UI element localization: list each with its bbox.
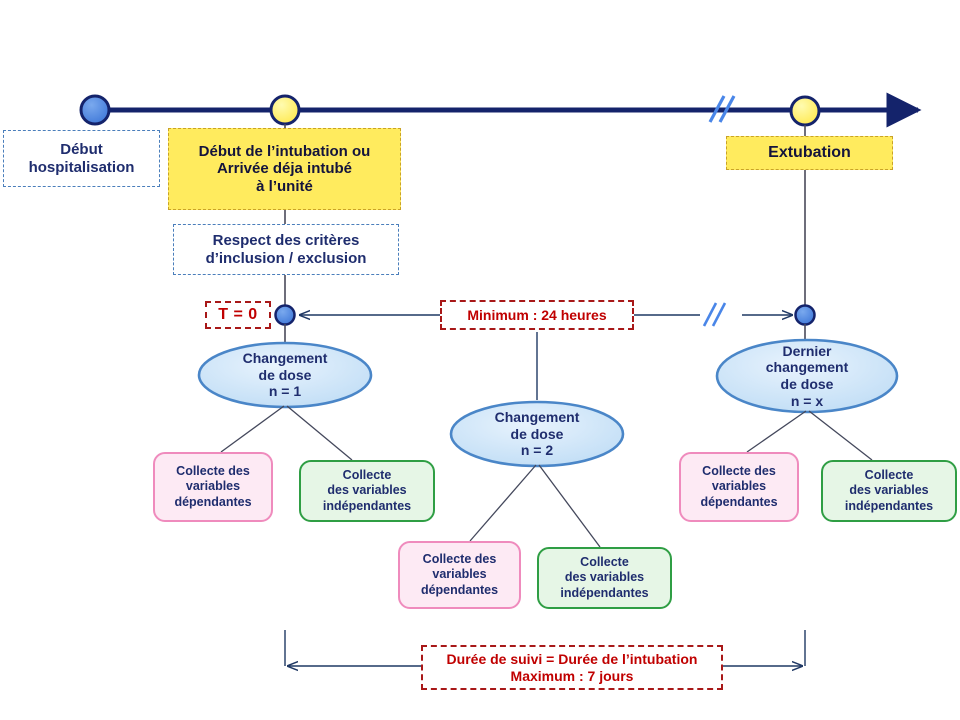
- box-debut-intubation: Début de l’intubation ou Arrivée déja in…: [168, 128, 401, 210]
- label-dernier-changement-dose: Dernier changement de dose n = x: [719, 344, 895, 408]
- collect-6-line-2: des variables: [849, 483, 928, 497]
- changement-dose-1-line-1: Changement: [243, 350, 328, 366]
- label-changement-dose-1: Changement de dose n = 1: [199, 345, 371, 405]
- collect-box-dependantes-2: Collecte des variables dépendantes: [398, 541, 521, 609]
- collect-1-line-1: Collecte des: [176, 464, 250, 478]
- collect-5-line-2: variables: [712, 479, 766, 493]
- box-t-zero: T = 0: [205, 301, 271, 329]
- collect-2-line-3: indépendantes: [323, 499, 411, 513]
- duree-suivi-line-1: Durée de suivi = Durée de l’intubation: [447, 651, 698, 667]
- collect-box-independantes-2: Collecte des variables indépendantes: [537, 547, 672, 609]
- debut-intubation-line-3: à l’unité: [256, 178, 313, 195]
- collect-3-line-2: variables: [432, 567, 486, 581]
- box-duree-suivi: Durée de suivi = Durée de l’intubation M…: [421, 645, 723, 690]
- marker-debut-intubation: [271, 96, 299, 124]
- node-dot-t0: [276, 306, 295, 325]
- debut-intubation-line-1: Début de l’intubation ou: [199, 143, 371, 160]
- dernier-changement-line-1: Dernier: [782, 343, 831, 359]
- duree-suivi-line-2: Maximum : 7 jours: [511, 668, 634, 684]
- box-minimum-24-heures: Minimum : 24 heures: [440, 300, 634, 330]
- collect-4-line-1: Collecte: [580, 555, 629, 569]
- collect-3-line-1: Collecte des: [423, 552, 497, 566]
- collect-box-dependantes-3: Collecte des variables dépendantes: [679, 452, 799, 522]
- collect-1-line-3: dépendantes: [174, 495, 251, 509]
- collect-1-line-2: variables: [186, 479, 240, 493]
- changement-dose-2-line-1: Changement: [495, 409, 580, 425]
- node-dot-dernier: [796, 306, 815, 325]
- respect-criteres-line-2: d’inclusion / exclusion: [206, 250, 367, 267]
- changement-dose-1-line-3: n = 1: [269, 383, 301, 399]
- collect-6-line-3: indépendantes: [845, 499, 933, 513]
- box-respect-criteres: Respect des critères d’inclusion / exclu…: [173, 224, 399, 275]
- changement-dose-1-line-2: de dose: [259, 367, 312, 383]
- collect-3-line-3: dépendantes: [421, 583, 498, 597]
- timeline-axis: [92, 96, 918, 122]
- extubation-label: Extubation: [768, 144, 851, 162]
- marker-debut-hospitalisation: [81, 96, 109, 124]
- diagram-canvas: Début hospitalisation Début de l’intubat…: [0, 0, 960, 720]
- label-changement-dose-2: Changement de dose n = 2: [451, 404, 623, 464]
- collect-2-line-1: Collecte: [343, 468, 392, 482]
- box-extubation: Extubation: [726, 136, 893, 170]
- collect-4-line-3: indépendantes: [560, 586, 648, 600]
- collect-2-line-2: des variables: [327, 483, 406, 497]
- t-zero-label: T = 0: [218, 306, 257, 324]
- dernier-changement-line-2: changement: [766, 359, 848, 375]
- box-debut-hospitalisation: Début hospitalisation: [3, 130, 160, 187]
- minimum-24h-label: Minimum : 24 heures: [467, 307, 606, 323]
- respect-criteres-line-1: Respect des critères: [213, 232, 360, 249]
- changement-dose-2-line-2: de dose: [511, 426, 564, 442]
- dernier-changement-line-4: n = x: [791, 393, 823, 409]
- dernier-changement-line-3: de dose: [781, 376, 834, 392]
- collect-box-dependantes-1: Collecte des variables dépendantes: [153, 452, 273, 522]
- timeline-break-icon: [710, 96, 734, 122]
- marker-extubation: [791, 97, 819, 125]
- debut-intubation-line-2: Arrivée déja intubé: [217, 160, 352, 177]
- debut-hospitalisation-line-1: Début: [60, 141, 103, 158]
- collect-5-line-3: dépendantes: [700, 495, 777, 509]
- collect-6-line-1: Collecte: [865, 468, 914, 482]
- changement-dose-2-line-3: n = 2: [521, 442, 553, 458]
- debut-hospitalisation-line-2: hospitalisation: [29, 159, 135, 176]
- collect-box-independantes-1: Collecte des variables indépendantes: [299, 460, 435, 522]
- collect-5-line-1: Collecte des: [702, 464, 776, 478]
- collect-4-line-2: des variables: [565, 570, 644, 584]
- collect-box-independantes-3: Collecte des variables indépendantes: [821, 460, 957, 522]
- row2-break-icon: [704, 303, 725, 326]
